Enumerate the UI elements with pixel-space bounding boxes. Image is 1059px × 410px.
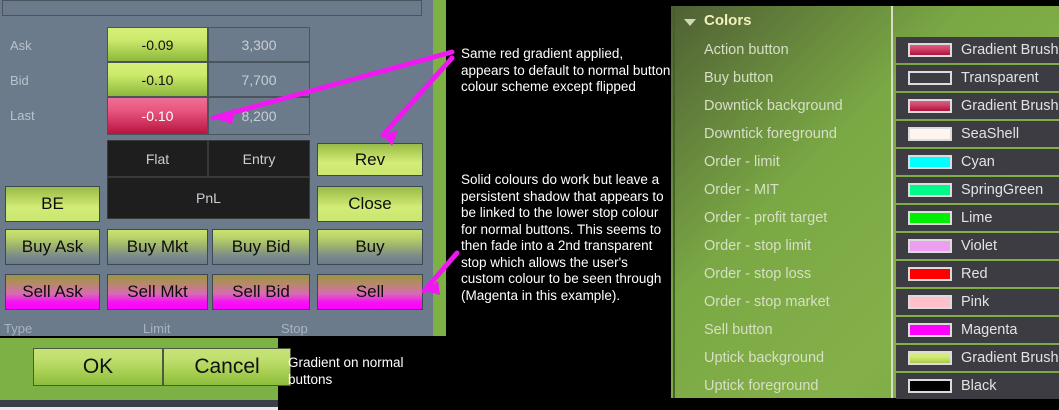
sell-mkt-button[interactable]: Sell Mkt [107,274,208,310]
property-label-order-mit: Order - MIT [704,182,779,198]
property-label-order-stop-market: Order - stop market [704,294,830,310]
info-cell-pnl[interactable]: PnL [107,177,310,219]
sell-button[interactable]: Sell [317,274,423,310]
color-swatch [908,239,952,253]
value-label: Gradient Brush [961,350,1059,366]
value-row-buy-button[interactable]: Transparent [896,65,1059,91]
rev-button[interactable]: Rev [317,143,423,176]
buy-button[interactable]: Buy [317,229,423,265]
footer-label-type: Type [4,321,32,336]
value-row-action-button[interactable]: Gradient Brush [896,37,1059,63]
footer-label-limit: Limit [143,321,170,336]
sell-bid-button[interactable]: Sell Bid [212,274,310,310]
close-button[interactable]: Close [317,186,423,222]
price-row-label-last: Last [10,108,35,123]
property-label-downtick-background: Downtick background [704,98,843,114]
annotation-solid-colours: Solid colours do work but leave a persis… [461,172,673,304]
value-label: Pink [961,294,989,310]
value-row-order-mit[interactable]: SpringGreen [896,177,1059,203]
color-swatch [908,211,952,225]
value-label: Black [961,378,996,394]
colors-panel-column-divider [891,6,893,398]
value-row-order-stop-market[interactable]: Pink [896,289,1059,315]
property-label-buy-button: Buy button [704,70,773,86]
value-label: Red [961,266,988,282]
color-swatch [908,323,952,337]
buy-mkt-button[interactable]: Buy Mkt [107,229,208,265]
buy-bid-button[interactable]: Buy Bid [212,229,310,265]
info-cell-flat[interactable]: Flat [107,140,208,177]
color-swatch [908,295,952,309]
price-change-cell-bid[interactable]: -0.10 [107,62,208,97]
value-label: Violet [961,238,997,254]
screen-root: Ask Bid Last -0.09 -0.10 -0.10 3,300 7,7… [0,0,1059,410]
info-cell-entry[interactable]: Entry [208,140,310,177]
value-row-order-stop-loss[interactable]: Red [896,261,1059,287]
value-row-downtick-foreground[interactable]: SeaShell [896,121,1059,147]
panel-green-edge-strip [433,0,446,336]
property-label-order-profit-target: Order - profit target [704,210,827,226]
property-label-action-button: Action button [704,42,789,58]
value-row-order-stop-limit[interactable]: Violet [896,233,1059,259]
property-label-order-stop-limit: Order - stop limit [704,238,811,254]
value-label: Magenta [961,322,1017,338]
value-label: Gradient Brush [961,42,1059,58]
property-label-order-stop-loss: Order - stop loss [704,266,811,282]
annotation-gradient-normal: Gradient on normal buttons [288,355,428,388]
ok-button[interactable]: OK [33,348,163,386]
property-label-uptick-foreground: Uptick foreground [704,378,818,394]
value-label: Lime [961,210,992,226]
cancel-button[interactable]: Cancel [163,348,291,386]
value-row-uptick-foreground[interactable]: Black [896,373,1059,399]
value-row-uptick-background[interactable]: Gradient Brush [896,345,1059,371]
value-label: Cyan [961,154,995,170]
colors-group-header: Colors [704,12,752,29]
value-row-order-profit-target[interactable]: Lime [896,205,1059,231]
property-label-sell-button: Sell button [704,322,773,338]
color-swatch [908,267,952,281]
price-change-cell-ask[interactable]: -0.09 [107,27,208,62]
value-label: Gradient Brush [961,98,1059,114]
value-label: Transparent [961,70,1039,86]
trading-panel: Ask Bid Last -0.09 -0.10 -0.10 3,300 7,7… [0,0,433,336]
color-swatch [908,71,952,85]
price-volume-cell-bid[interactable]: 7,700 [208,62,310,97]
property-label-order-limit: Order - limit [704,154,780,170]
value-row-sell-button[interactable]: Magenta [896,317,1059,343]
price-row-label-ask: Ask [10,38,32,53]
price-row-label-bid: Bid [10,73,29,88]
color-swatch [908,99,952,113]
color-swatch [908,43,952,57]
price-volume-cell-ask[interactable]: 3,300 [208,27,310,62]
property-label-downtick-foreground: Downtick foreground [704,126,837,142]
value-row-downtick-background[interactable]: Gradient Brush [896,93,1059,119]
value-label: SpringGreen [961,182,1043,198]
color-swatch [908,155,952,169]
color-swatch [908,183,952,197]
price-change-cell-last[interactable]: -0.10 [107,97,208,135]
dialog-bottom-strip [0,400,278,407]
ok-cancel-dialog: OK Cancel [0,338,278,400]
footer-label-stop: Stop [281,321,308,336]
sell-ask-button[interactable]: Sell Ask [5,274,100,310]
color-swatch [908,351,952,365]
chevron-down-icon[interactable] [684,19,696,26]
annotation-red-gradient: Same red gradient applied, appears to de… [461,46,673,96]
top-display-box[interactable] [2,0,422,16]
property-label-uptick-background: Uptick background [704,350,824,366]
color-swatch [908,379,952,393]
buy-ask-button[interactable]: Buy Ask [5,229,100,265]
value-row-order-limit[interactable]: Cyan [896,149,1059,175]
value-label: SeaShell [961,126,1019,142]
be-button[interactable]: BE [5,186,100,222]
color-swatch [908,127,952,141]
price-volume-cell-last[interactable]: 8,200 [208,97,310,135]
colors-panel-left-rule [673,6,675,398]
